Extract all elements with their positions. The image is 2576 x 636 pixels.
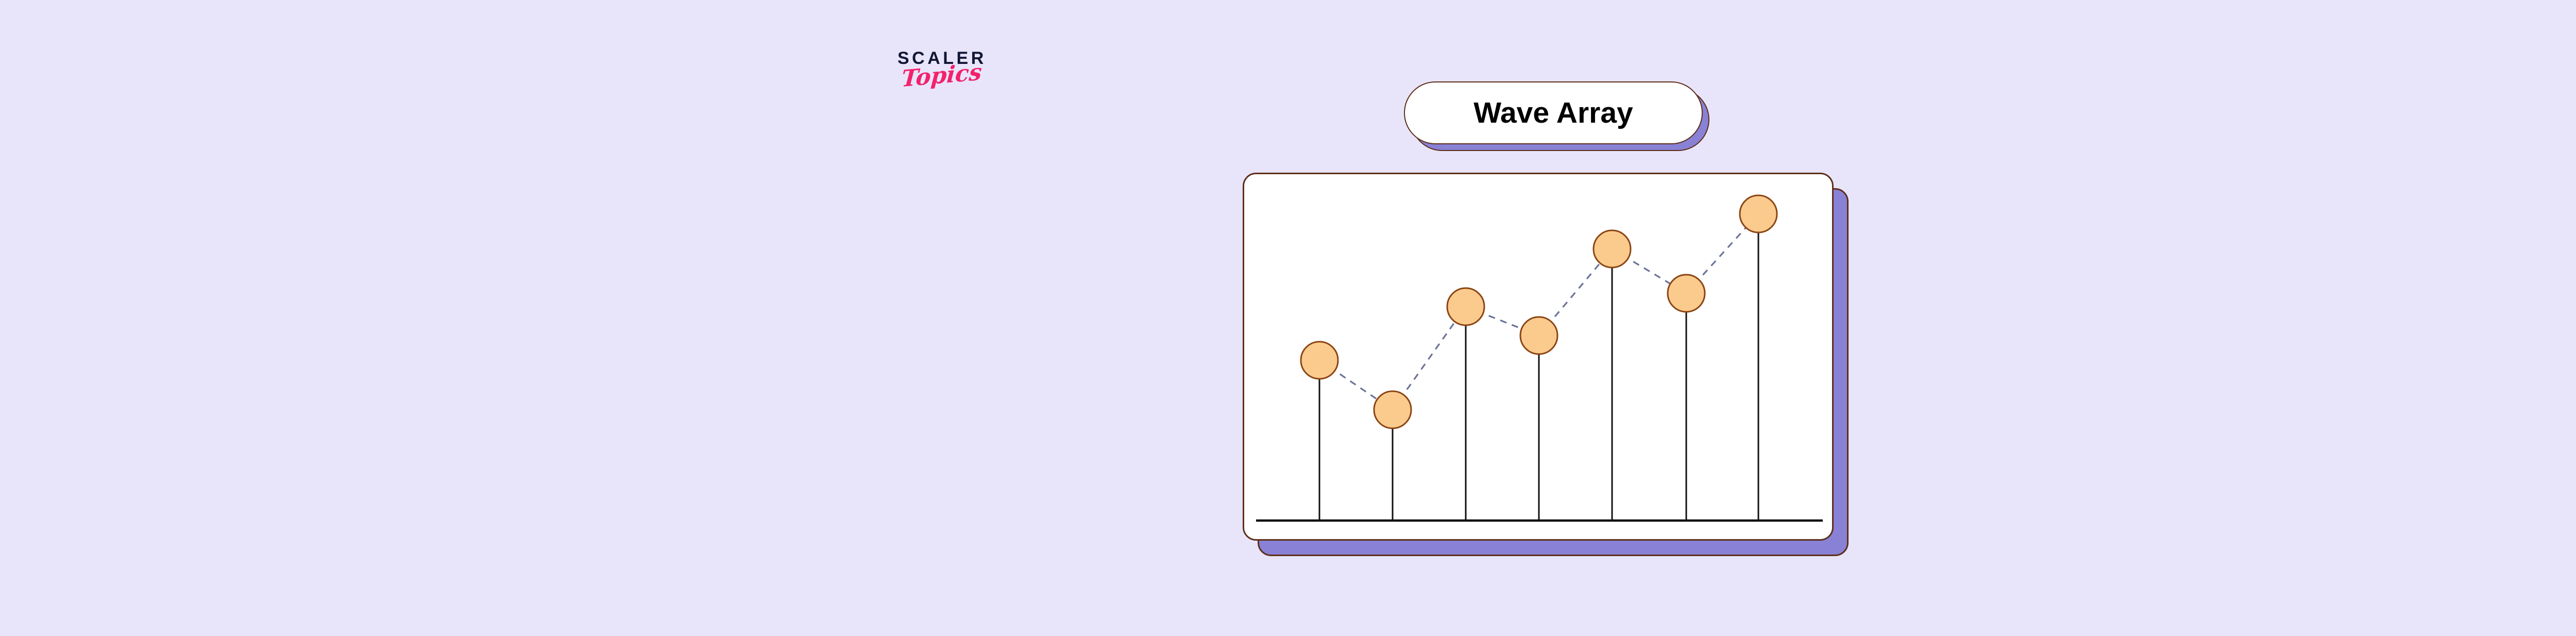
scaler-topics-logo: SCALER Topics <box>896 47 1020 99</box>
data-point-6 <box>1668 275 1705 312</box>
title-badge-surface: Wave Array <box>1404 81 1703 144</box>
title-badge: Wave Array <box>1404 81 1709 152</box>
brand-name-topics: Topics <box>901 61 982 91</box>
wave-array-lollipop-chart <box>1244 174 1834 541</box>
data-point-5 <box>1594 230 1631 267</box>
chart-card-surface <box>1243 173 1834 541</box>
chart-card <box>1243 173 1849 556</box>
data-point-7 <box>1740 195 1777 232</box>
data-point-3 <box>1447 288 1484 325</box>
page-title: Wave Array <box>1473 96 1633 130</box>
screenshot-canvas: SCALER Topics Wave Array <box>0 0 2576 636</box>
data-point-1 <box>1301 342 1338 379</box>
data-point-2 <box>1374 391 1411 428</box>
data-point-4 <box>1520 317 1557 354</box>
